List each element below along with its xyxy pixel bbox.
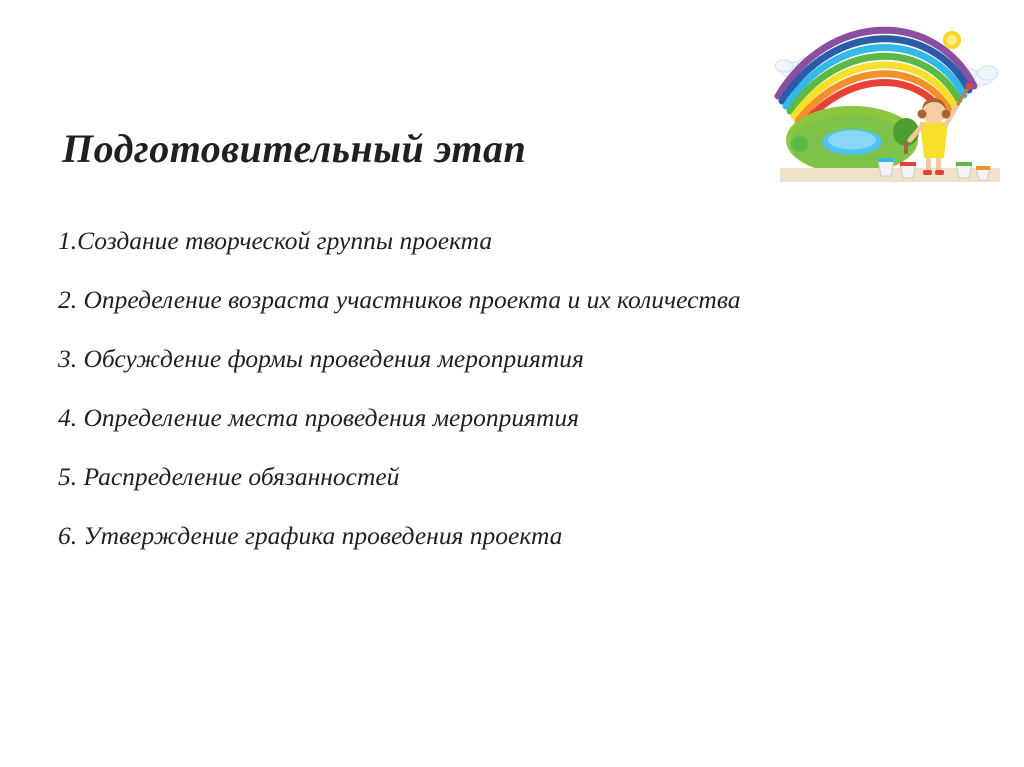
paint-bucket-icon: [900, 162, 916, 178]
rainbow-painter-illustration: [760, 18, 1010, 208]
paint-bucket-icon: [976, 166, 990, 180]
list-item: 4. Определение места проведения мероприя…: [58, 395, 848, 440]
paint-bucket-icon: [956, 162, 972, 178]
list-item: 1.Создание творческой группы проекта: [58, 218, 848, 263]
content-list: 1.Создание творческой группы проекта 2. …: [58, 218, 848, 558]
page-title: Подготовительный этап: [62, 125, 526, 172]
list-item: 3. Обсуждение формы проведения мероприят…: [58, 336, 848, 381]
list-item: 2. Определение возраста участников проек…: [58, 277, 848, 322]
list-item: 5. Распределение обязанностей: [58, 454, 848, 499]
paint-bucket-icon: [878, 158, 894, 176]
list-item: 6. Утверждение графика проведения проект…: [58, 513, 848, 558]
sun-icon: [943, 31, 961, 49]
tree-icon: [791, 136, 809, 152]
slide: Подготовительный этап 1.Создание творчес…: [0, 0, 1024, 767]
